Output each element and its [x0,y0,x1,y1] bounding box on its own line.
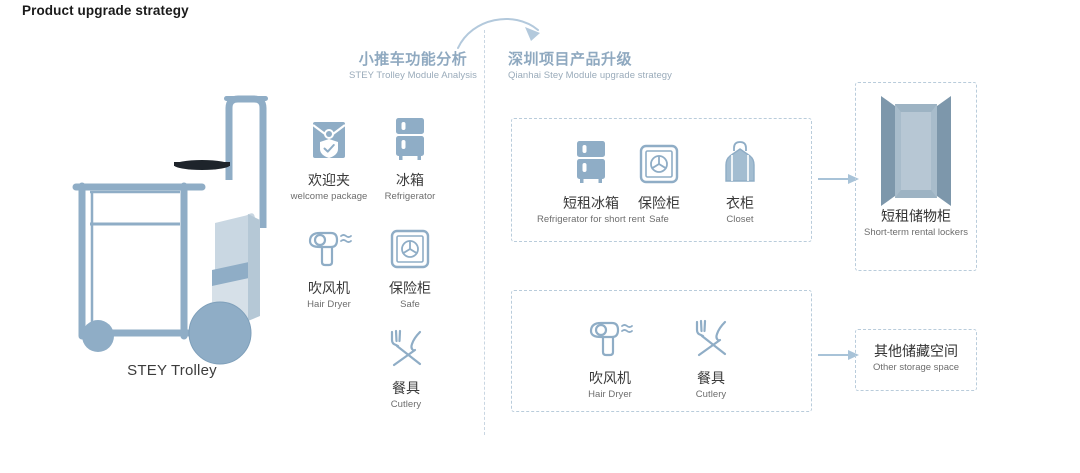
module-safe-upgrade: 保险柜 Safe [627,135,691,226]
column-heading-upgrade-cn: 深圳项目产品升级 [508,50,672,69]
module-cutlery: 餐具 Cutlery [354,320,458,411]
module-label-en: Refrigerator [358,190,462,203]
module-label-en: Hair Dryer [568,388,652,401]
safe-icon [627,135,691,185]
other-storage-group [511,290,812,412]
module-label-cn: 保险柜 [627,194,691,212]
module-cutlery-upgrade: 餐具 Cutlery [669,310,753,401]
module-label-cn: 餐具 [354,379,458,397]
column-heading-analysis: 小推车功能分析 STEY Trolley Module Analysis [343,50,483,83]
module-label-cn: 餐具 [669,369,753,387]
module-label-en: Safe [627,213,691,226]
cutlery-icon [354,320,458,370]
module-label-cn: 冰箱 [358,171,462,189]
page-title: Product upgrade strategy [22,3,189,18]
module-label-cn: 吹风机 [568,369,652,387]
module-hair-dryer-upgrade: 吹风机 Hair Dryer [568,310,652,401]
column-heading-analysis-en: STEY Trolley Module Analysis [343,69,483,83]
result-other-storage-space: 其他储藏空间 Other storage space [855,329,977,391]
module-label-en: Closet [707,213,773,226]
closet-icon [707,135,773,185]
column-heading-analysis-cn: 小推车功能分析 [343,50,483,69]
result-short-term-rental-lockers: 短租储物柜 Short-term rental lockers [855,82,977,271]
module-label-cn: 衣柜 [707,194,773,212]
column-heading-upgrade: 深圳项目产品升级 Qianhai Stey Module upgrade str… [508,50,672,83]
module-label-en: Cutlery [669,388,753,401]
module-label-en: Cutlery [354,398,458,411]
locker-cabinet-illustration [856,83,976,207]
result-label-en: Other storage space [856,361,976,374]
module-refrigerator: 冰箱 Refrigerator [358,112,462,203]
trolley-caption: STEY Trolley [52,362,292,379]
hair-dryer-icon [568,310,652,360]
section-divider [484,30,485,435]
module-label-cn: 保险柜 [358,279,462,297]
column-heading-upgrade-en: Qianhai Stey Module upgrade strategy [508,69,672,83]
safe-icon [358,220,462,270]
curved-arrow-icon [452,8,562,54]
refrigerator-icon [358,112,462,162]
result-label-cn: 短租储物柜 [856,207,976,226]
stey-trolley-illustration [52,88,292,393]
module-safe: 保险柜 Safe [358,220,462,311]
result-label-en: Short-term rental lockers [856,226,976,239]
cutlery-icon [669,310,753,360]
module-label-en: Safe [358,298,462,311]
module-closet: 衣柜 Closet [707,135,773,226]
result-label-cn: 其他储藏空间 [856,342,976,361]
